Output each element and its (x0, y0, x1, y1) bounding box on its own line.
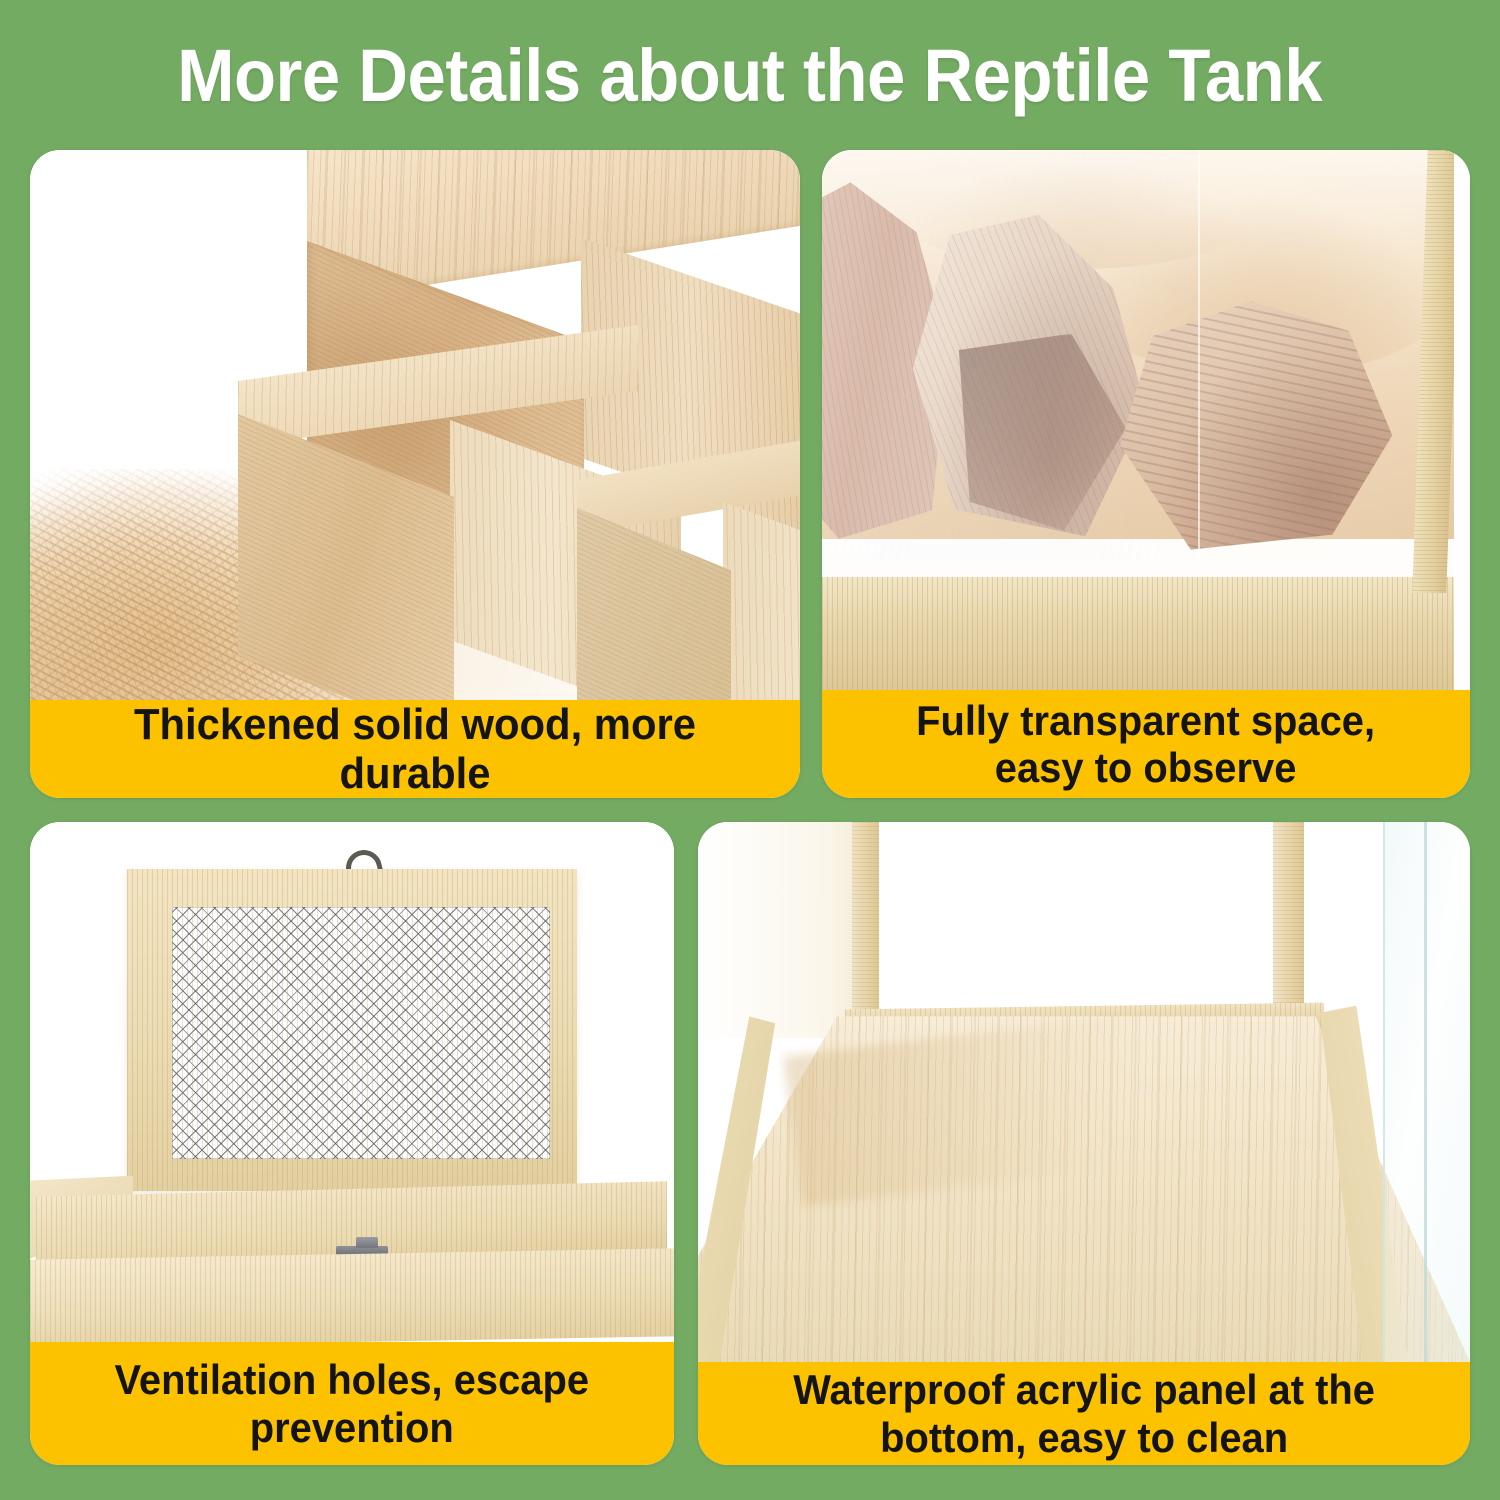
glass-panel-front (822, 150, 1200, 560)
acrylic-bottom-photo (698, 822, 1470, 1362)
wooden-corner-post-left (852, 822, 878, 1027)
page-header: More Details about the Reptile Tank (0, 0, 1500, 150)
caption-bar-waterproof-acrylic-panel: Waterproof acrylic panel at the bottom, … (698, 1362, 1470, 1465)
caption-text: Ventilation holes, escape prevention (115, 1356, 590, 1450)
caption-bar-fully-transparent-space: Fully transparent space, easy to observe (822, 690, 1470, 798)
caption-text: Fully transparent space, easy to observe (916, 697, 1375, 791)
ventilation-scene (30, 822, 674, 1342)
mesh-lid-frame (127, 869, 578, 1191)
tank-front-rail (30, 1248, 674, 1342)
caption-bar-ventilation-holes: Ventilation holes, escape prevention (30, 1342, 674, 1465)
tank-scene (822, 150, 1470, 690)
caption-text: Waterproof acrylic panel at the bottom, … (793, 1366, 1375, 1460)
wood-block-lower-side (723, 502, 800, 700)
page-title: More Details about the Reptile Tank (178, 33, 1323, 118)
glass-panel-side (1198, 150, 1431, 560)
mesh-screen-window (172, 907, 551, 1158)
wire-mesh-pattern (172, 907, 551, 1158)
photo-white-margin (1454, 150, 1470, 690)
tank-left-wall (698, 822, 860, 1038)
feature-card-fully-transparent-space: Fully transparent space, easy to observe (822, 150, 1470, 798)
feature-card-waterproof-acrylic-panel: Waterproof acrylic panel at the bottom, … (698, 822, 1470, 1465)
wooden-frame-bottom-rail (822, 577, 1470, 690)
wood-scene (30, 150, 800, 700)
glass-side-panel (1383, 822, 1470, 1362)
acrylic-scene (698, 822, 1470, 1362)
caption-text: Thickened solid wood, more durable (64, 700, 765, 798)
wooden-corner-post-right (1273, 822, 1304, 1022)
ventilation-lid-photo (30, 822, 674, 1342)
feature-card-thickened-solid-wood: Thickened solid wood, more durable (30, 150, 800, 798)
feature-card-ventilation-holes: Ventilation holes, escape prevention (30, 822, 674, 1465)
wood-blocks-photo (30, 150, 800, 700)
caption-bar-thickened-solid-wood: Thickened solid wood, more durable (30, 700, 800, 798)
transparent-tank-photo (822, 150, 1470, 690)
